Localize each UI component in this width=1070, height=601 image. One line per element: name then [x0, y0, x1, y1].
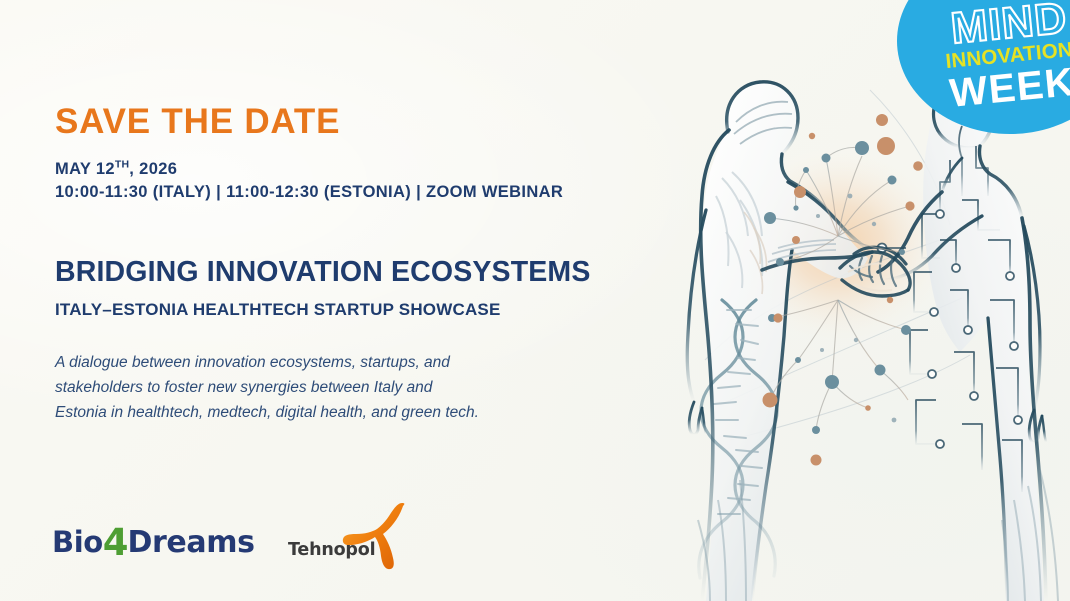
- bio4dreams-four-glyph: 4: [103, 521, 129, 564]
- event-platform: ZOOM WEBINAR: [426, 183, 563, 201]
- poster-canvas: SAVE THE DATE MAY 12TH, 2026 10:00-11:30…: [0, 0, 1070, 601]
- event-date-ordinal: TH: [115, 159, 129, 171]
- event-date-suffix: , 2026: [129, 160, 177, 178]
- time-separator-2: |: [411, 181, 426, 204]
- save-the-date-heading: SAVE THE DATE: [55, 104, 655, 139]
- event-time-estonia: 11:00-12:30 (ESTONIA): [226, 183, 411, 201]
- bio4dreams-logo: Bio 4 Dreams: [52, 518, 255, 552]
- bio4dreams-dreams-text: Dreams: [128, 525, 255, 560]
- event-subheadline: ITALY–ESTONIA HEALTHTECH STARTUP SHOWCAS…: [55, 300, 655, 320]
- tehnopol-wordmark: Tehnopol: [288, 540, 375, 560]
- bio4dreams-bio-text: Bio: [52, 525, 103, 559]
- event-text-column: SAVE THE DATE MAY 12TH, 2026 10:00-11:30…: [55, 104, 655, 425]
- event-time-line: 10:00-11:30 (ITALY)|11:00-12:30 (ESTONIA…: [55, 181, 655, 204]
- tehnopol-logo: Tehnopol: [288, 500, 413, 572]
- event-time-italy: 10:00-11:30 (ITALY): [55, 183, 211, 201]
- tehnopol-propeller-icon: [341, 500, 413, 572]
- badge-text-group: MIND INNOVATION WEEK: [897, 0, 1070, 134]
- event-date-line: MAY 12TH, 2026: [55, 158, 655, 181]
- event-description: A dialogue between innovation ecosystems…: [55, 350, 485, 425]
- mind-innovation-week-badge: MIND INNOVATION WEEK: [897, 0, 1070, 134]
- time-separator-1: |: [211, 181, 226, 204]
- event-headline: BRIDGING INNOVATION ECOSYSTEMS: [55, 257, 655, 288]
- event-date-prefix: MAY 12: [55, 160, 115, 178]
